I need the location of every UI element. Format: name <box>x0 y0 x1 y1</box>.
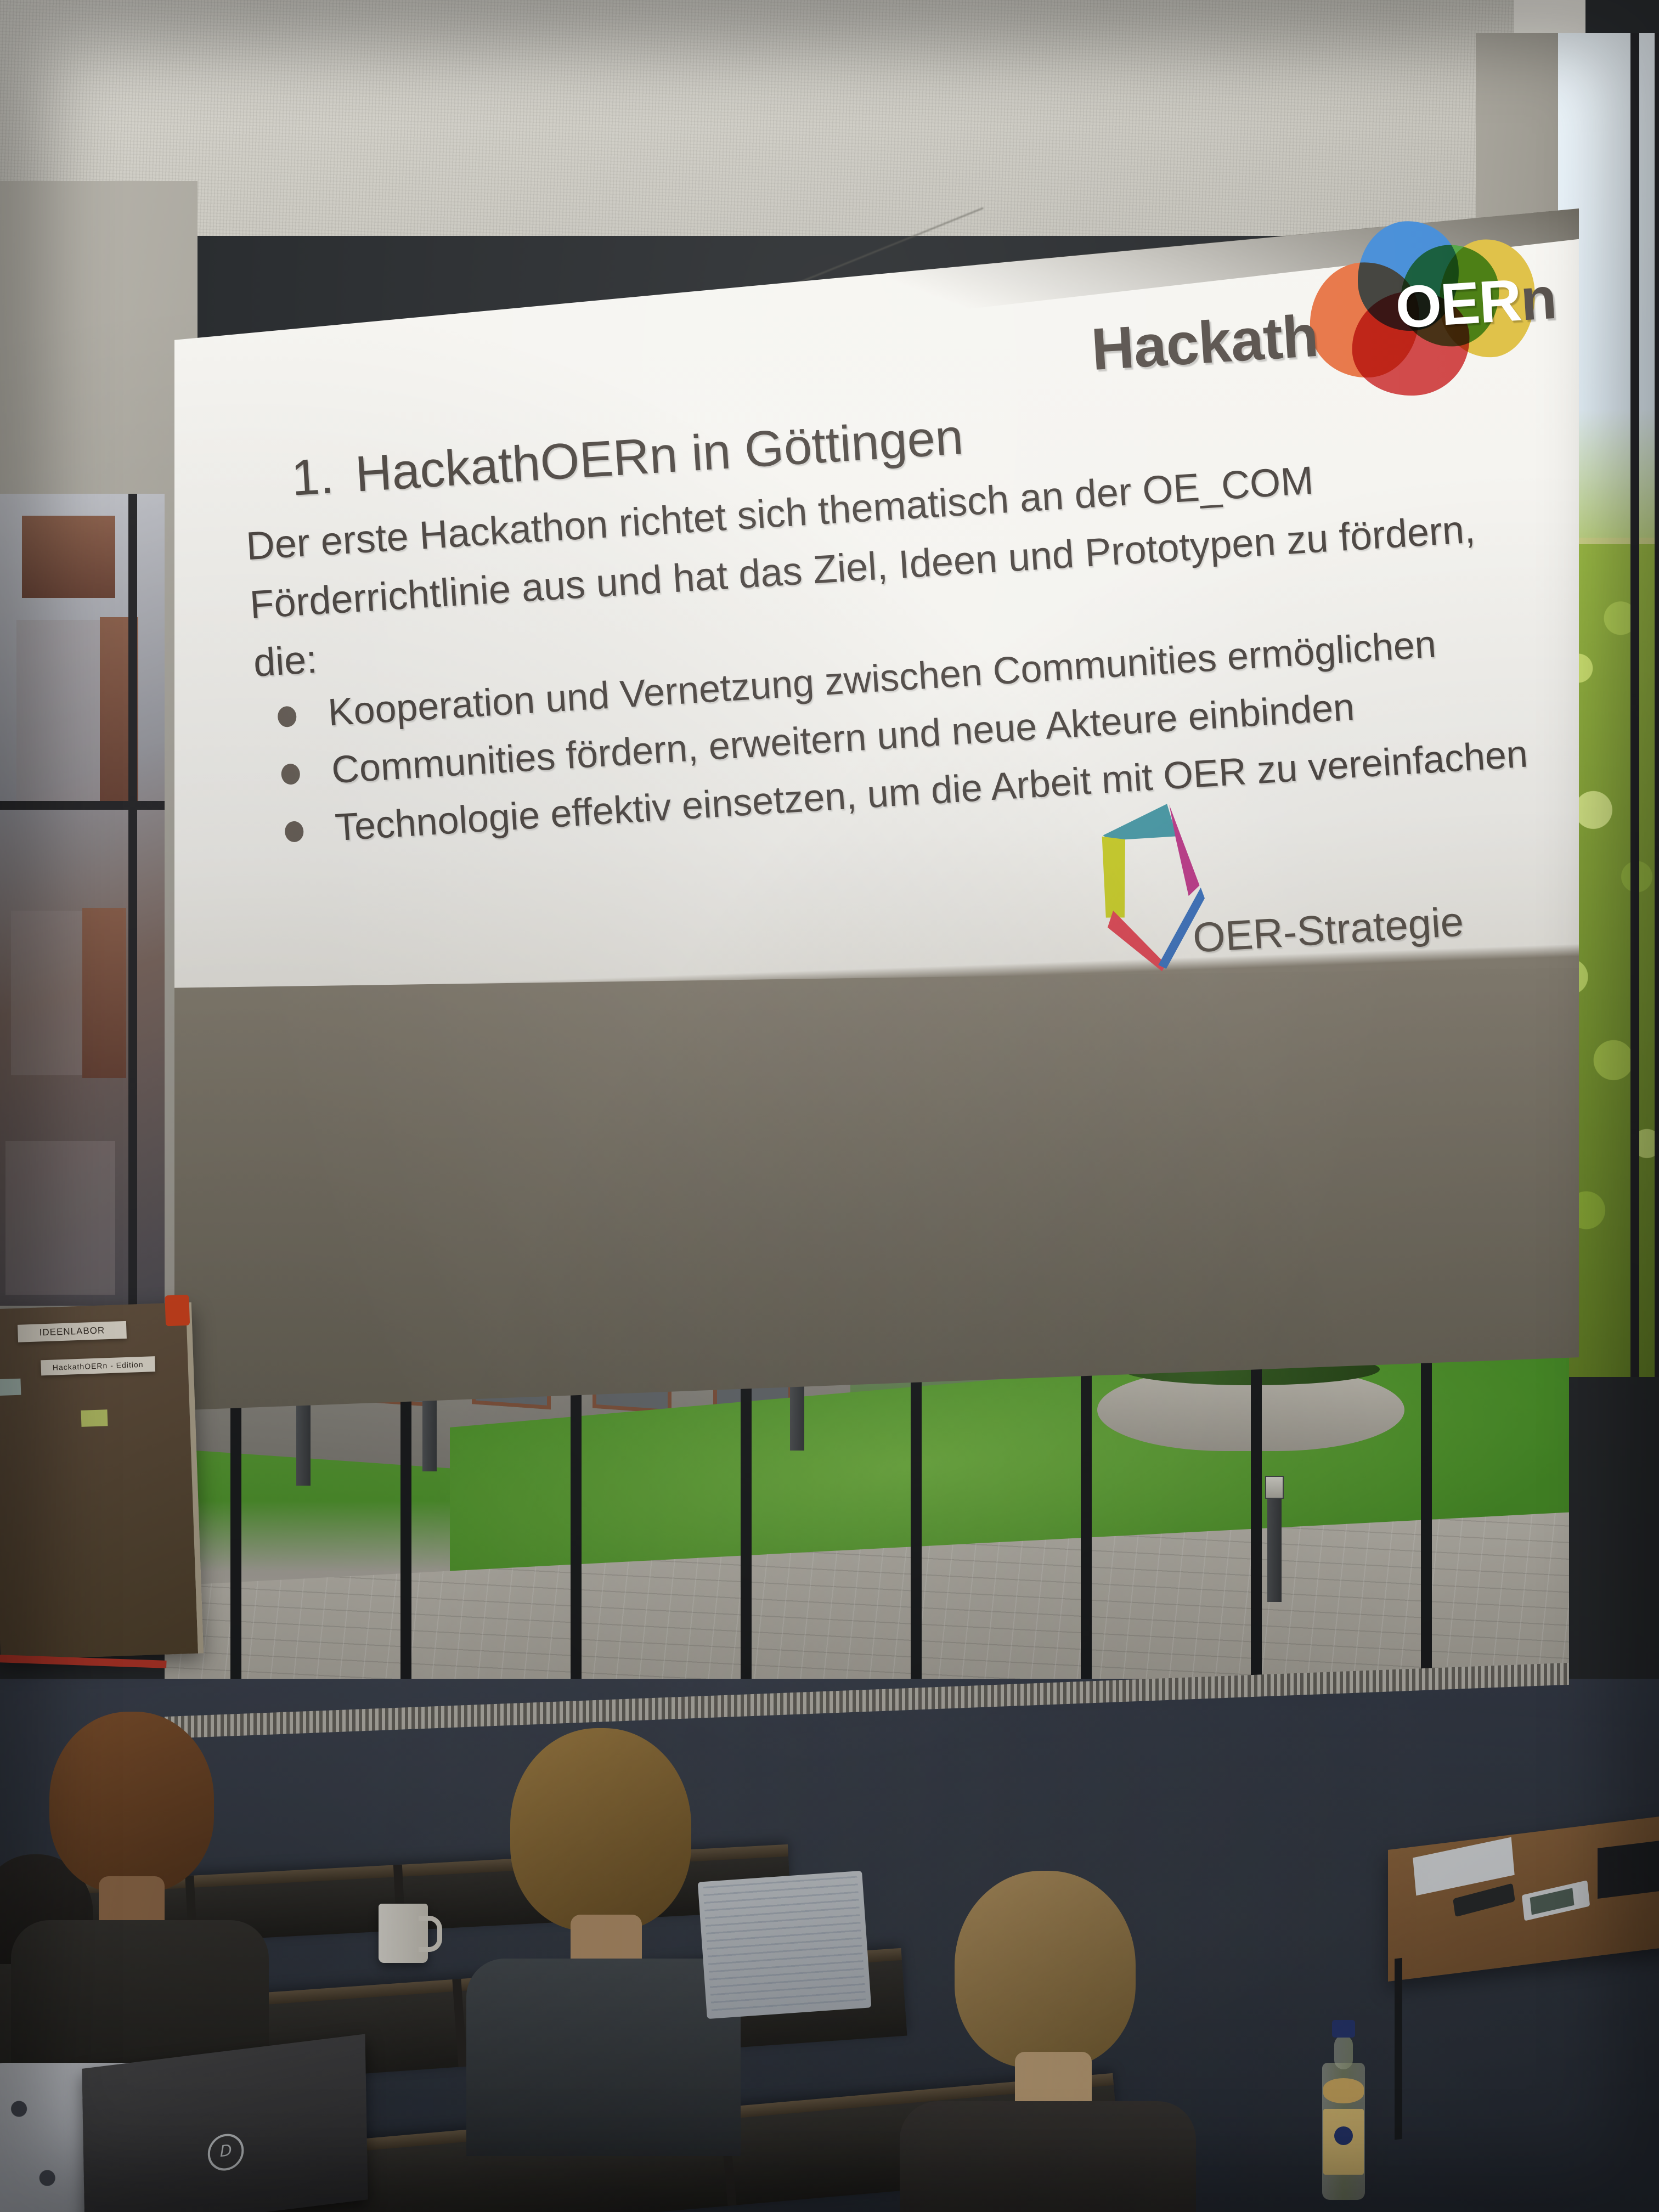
av-remote[interactable] <box>1453 1883 1515 1917</box>
macbook-screen <box>703 1876 866 2013</box>
open-macbook[interactable] <box>698 1871 872 2019</box>
pinboard-sticky-note <box>0 1379 21 1396</box>
hackathoern-wordmark-white: OER <box>1393 267 1522 341</box>
hackathoern-wordmark-oern: OERn <box>1393 263 1558 342</box>
coffee-mug <box>379 1904 428 1963</box>
idea-lab-pinboard: IDEENLABOR HackathOERn - Edition <box>0 1302 204 1661</box>
desk-equipment-box <box>1598 1838 1659 1899</box>
oer-strategie-logo: OER-Strategie <box>1085 761 1450 1018</box>
lecture-hall-photo: Hackath OERn 1.HackathOERn in Göttingen … <box>0 0 1659 2212</box>
logo-shard-red <box>1107 907 1166 974</box>
pinboard-sticky-note <box>81 1409 108 1427</box>
pinboard-base-rail <box>0 1655 167 1668</box>
desk-leg <box>1395 1958 1402 2140</box>
slide-title-number: 1. <box>290 447 335 507</box>
logo-shard-teal <box>1101 803 1176 840</box>
presentation-slide: Hackath OERn 1.HackathOERn in Göttingen … <box>196 187 1647 1068</box>
hackathoern-wordmark-prefix: Hackath <box>1090 301 1320 383</box>
bottle-label <box>1323 2109 1364 2175</box>
club-mate-bottle <box>1322 2019 1365 2200</box>
hackathoern-wordmark-dark: n <box>1519 264 1558 333</box>
hackathoern-logo: Hackath OERn <box>1085 212 1567 422</box>
touch-control-panel[interactable] <box>1522 1880 1590 1921</box>
logo-shard-yellowgreen <box>1101 835 1130 918</box>
pinboard-corner-clip <box>165 1295 190 1327</box>
bottle-cap <box>1332 2020 1355 2038</box>
dell-logo-icon: D <box>207 2132 244 2172</box>
window-wall-left <box>0 494 165 1306</box>
pinboard-sign-hackathoern-edition: HackathOERn - Edition <box>41 1356 155 1375</box>
projection-screen: Hackath OERn 1.HackathOERn in Göttingen … <box>174 208 1579 1404</box>
logo-shard-magenta <box>1169 803 1200 897</box>
pinboard-sign-ideenlabor: IDEENLABOR <box>18 1321 127 1342</box>
ceiling <box>0 0 1536 236</box>
